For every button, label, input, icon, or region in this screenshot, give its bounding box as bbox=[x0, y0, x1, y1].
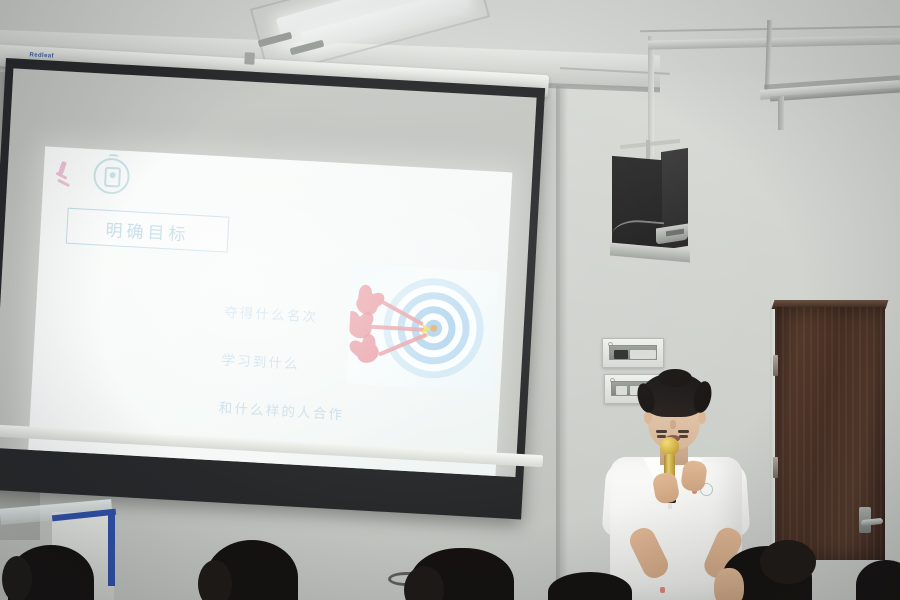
slide-title: 明确目标 bbox=[105, 215, 190, 245]
wooden-door[interactable] bbox=[775, 307, 885, 560]
corner-pillar bbox=[648, 36, 654, 156]
school-emblem-icon bbox=[93, 157, 131, 195]
nose bbox=[670, 420, 676, 429]
screen-bracket bbox=[244, 52, 255, 65]
stand-blue-edge bbox=[108, 514, 115, 586]
wall-speaker bbox=[612, 154, 690, 254]
slide-bullet-item: 和什么样的人合作 bbox=[218, 396, 379, 425]
dartboard-illustration bbox=[346, 264, 498, 392]
slide-title-box: 明确目标 bbox=[66, 208, 230, 253]
projected-slide: 明确目标 夺得什么名次 学习到什么 和什么样的人合作 bbox=[27, 146, 512, 477]
audience-face bbox=[714, 568, 744, 600]
breaker-panel-upper bbox=[602, 338, 664, 368]
slide-accent-strokes-icon bbox=[53, 161, 81, 192]
panel-window bbox=[609, 345, 657, 360]
shirt-hem-mark bbox=[660, 587, 665, 593]
audience-head bbox=[198, 560, 232, 600]
audience-head bbox=[760, 540, 816, 584]
audience-head bbox=[2, 556, 32, 600]
wall-corner-shadow bbox=[556, 0, 568, 600]
conduit-pipe bbox=[778, 96, 784, 130]
screen-brand-label: Redleaf bbox=[29, 52, 54, 59]
classroom-presentation-photo: Redleaf 明确目标 夺得什么名次 学习到什么 bbox=[0, 0, 900, 600]
dart-icon bbox=[353, 326, 447, 375]
projection-screen-surface: 明确目标 夺得什么名次 学习到什么 和什么样的人合作 bbox=[0, 68, 537, 477]
